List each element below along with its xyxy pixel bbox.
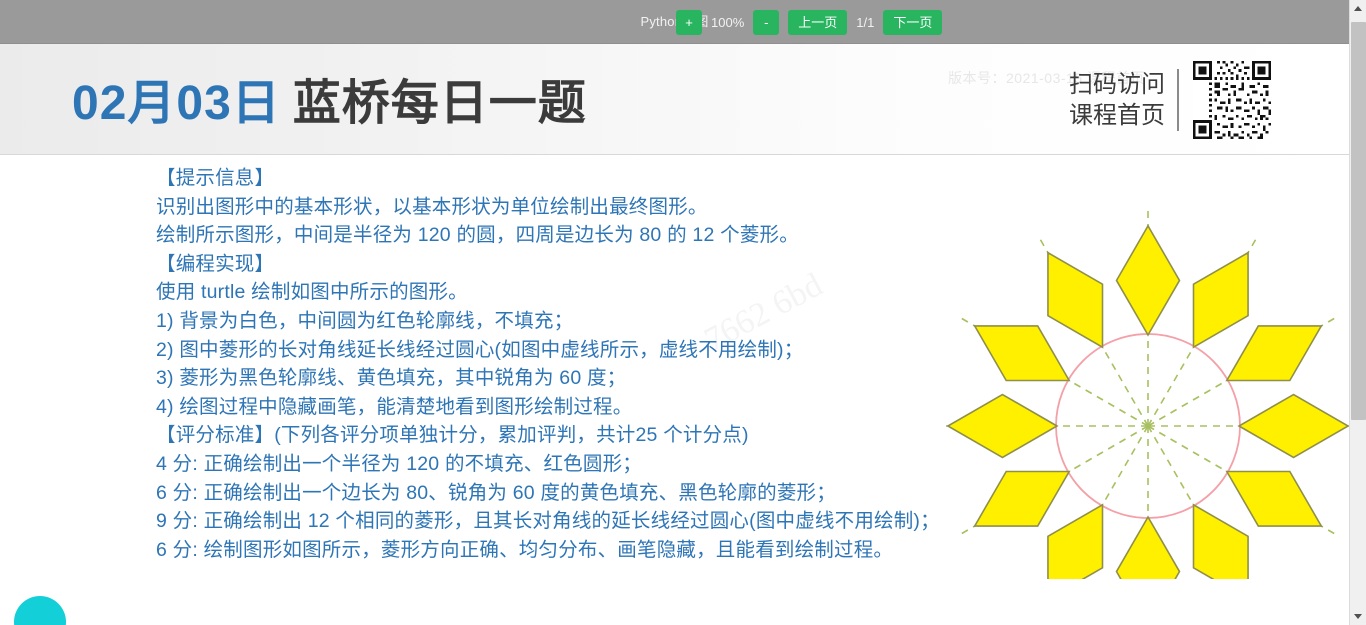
- next-page-button[interactable]: 下一页: [883, 10, 942, 35]
- rhombus: [1048, 505, 1103, 579]
- doc-line: 4) 绘图过程中隐藏画笔，能清楚地看到图形绘制过程。: [156, 393, 1036, 422]
- decorative-circle: [14, 596, 66, 625]
- document-page: 02月03日蓝桥每日一题 版本号：2021-03-15 课程首页 扫码访问 课程…: [0, 44, 1349, 625]
- doc-line: 使用 turtle 绘制如图中所示的图形。: [156, 278, 1036, 307]
- page-indicator: 1/1: [856, 15, 874, 30]
- rhombus: [1117, 517, 1180, 579]
- doc-line: 识别出图形中的基本形状，以基本形状为单位绘制出最终图形。: [156, 193, 1036, 222]
- qr-caption-line2: 课程首页: [1069, 100, 1165, 131]
- rhombus: [975, 326, 1069, 381]
- scroll-up-icon[interactable]: [1350, 0, 1366, 17]
- doc-line: 6 分: 正确绘制出一个边长为 80、锐角为 60 度的黄色填充、黑色轮廓的菱形…: [156, 479, 1036, 508]
- rhombus-group: [948, 226, 1348, 579]
- doc-line: 绘制所示图形，中间是半径为 120 的圆，四周是边长为 80 的 12 个菱形。: [156, 221, 1036, 250]
- doc-line: 9 分: 正确绘制出 12 个相同的菱形，且其长对角线的延长线经过圆心(图中虚线…: [156, 507, 1036, 536]
- page-banner: 02月03日蓝桥每日一题 版本号：2021-03-15 课程首页 扫码访问 课程…: [0, 44, 1349, 155]
- doc-line: 【提示信息】: [156, 164, 1036, 193]
- viewer-title: Python绘图: [0, 0, 1349, 43]
- zoom-level-label: 100%: [711, 15, 744, 30]
- rhombus: [1239, 395, 1348, 458]
- toolbar-controls: + 100% - 上一页 1/1 下一页: [676, 10, 942, 35]
- rhombus: [948, 395, 1057, 458]
- banner-date: 02月03日: [72, 77, 281, 130]
- rhombus: [1227, 326, 1322, 381]
- rhombus: [1227, 472, 1322, 527]
- qr-caption-line1: 扫码访问: [1069, 69, 1165, 100]
- doc-line: 【评分标准】(下列各评分项单独计分，累加评判，共计25 个计分点): [156, 421, 1036, 450]
- doc-line: 1) 背景为白色，中间圆为红色轮廓线，不填充；: [156, 307, 1036, 336]
- problem-statement: 【提示信息】 识别出图形中的基本形状，以基本形状为单位绘制出最终图形。 绘制所示…: [156, 164, 1036, 564]
- rhombus: [1194, 253, 1249, 348]
- doc-line: 6 分: 绘制图形如图所示，菱形方向正确、均匀分布、画笔隐藏，且能看到绘制过程。: [156, 536, 1036, 565]
- rhombus: [1048, 253, 1103, 348]
- doc-line: 【编程实现】: [156, 250, 1036, 279]
- qr-code-icon: [1193, 61, 1271, 139]
- turtle-figure: [946, 175, 1349, 579]
- doc-line: 3) 菱形为黑色轮廓线、黄色填充，其中锐角为 60 度；: [156, 364, 1036, 393]
- qr-caption: 扫码访问 课程首页: [1069, 69, 1179, 131]
- zoom-in-button[interactable]: +: [676, 10, 702, 35]
- zoom-out-button[interactable]: -: [753, 10, 779, 35]
- prev-page-button[interactable]: 上一页: [788, 10, 847, 35]
- scrollbar-thumb[interactable]: [1351, 22, 1366, 420]
- page-title: 02月03日蓝桥每日一题: [72, 63, 587, 133]
- vertical-scrollbar[interactable]: [1349, 0, 1366, 625]
- pdf-viewer: Python绘图 + 100% - 上一页 1/1 下一页 02月03日蓝桥每日…: [0, 0, 1349, 625]
- banner-heading: 蓝桥每日一题: [293, 77, 587, 130]
- rhombus: [1194, 505, 1249, 579]
- rhombus: [975, 472, 1069, 527]
- scroll-down-icon[interactable]: [1350, 608, 1366, 625]
- viewer-toolbar: Python绘图 + 100% - 上一页 1/1 下一页: [0, 0, 1349, 44]
- rhombus: [1117, 226, 1180, 335]
- doc-line: 2) 图中菱形的长对角线延长线经过圆心(如图中虚线所示，虚线不用绘制)；: [156, 336, 1036, 365]
- doc-line: 4 分: 正确绘制出一个半径为 120 的不填充、红色圆形；: [156, 450, 1036, 479]
- qr-access-block: 扫码访问 课程首页: [1069, 60, 1271, 140]
